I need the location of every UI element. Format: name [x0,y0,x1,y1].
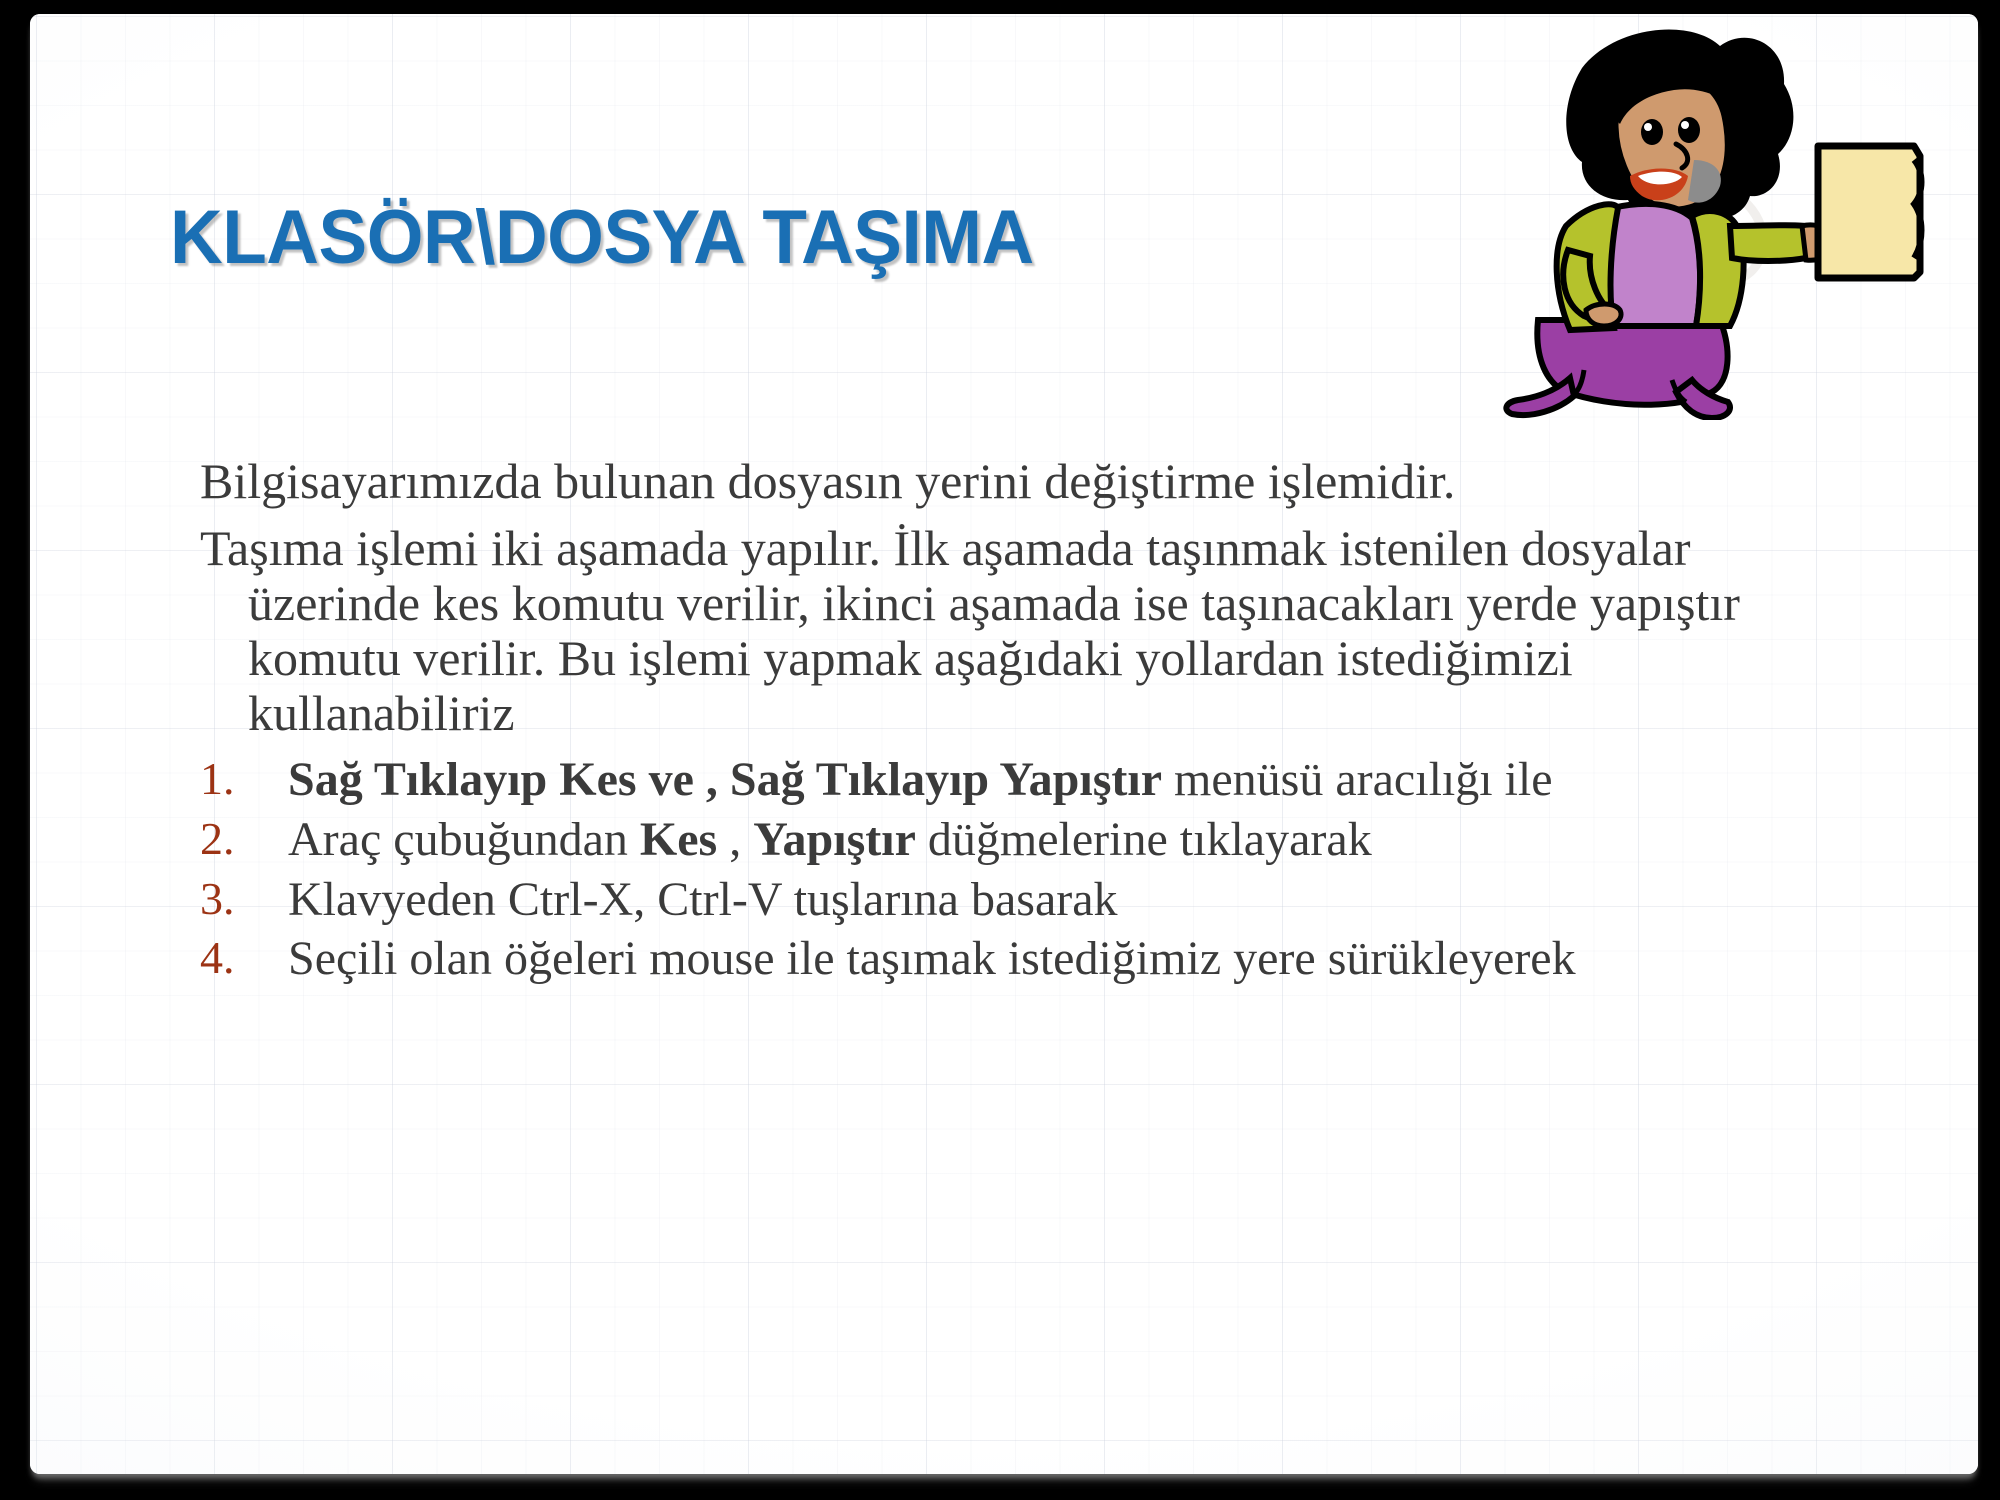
shoe-left [1506,378,1574,415]
step-2-mid: , [717,813,753,866]
list-marker: 1. [200,753,262,805]
eye-right-highlight [1681,121,1689,129]
blouse [1608,204,1701,326]
paragraph-intro-text: Bilgisayarımızda bulunan dosyasın yerini… [200,453,1455,509]
step-3-text: Klavyeden Ctrl-X, Ctrl-V tuşlarına basar… [288,873,1118,926]
list-marker: 2. [200,813,262,865]
step-2-bold-yapistir: Yapıştır [753,813,916,866]
arm-right-sleeve [1730,225,1812,261]
step-4-text: Seçili olan öğeleri mouse ile taşımak is… [288,932,1576,985]
eye-left [1641,119,1663,145]
slide-body: Bilgisayarımızda bulunan dosyasın yerini… [200,454,1840,992]
slide-canvas: KLASÖR\DOSYA TAŞIMA Bilgisayarımızda bul… [30,14,1978,1474]
list-item: 4.Seçili olan öğeleri mouse ile taşımak … [200,932,1840,986]
list-item: 3.Klavyeden Ctrl-X, Ctrl-V tuşlarına bas… [200,873,1840,927]
step-1-tail: menüsü aracılığı ile [1162,753,1553,806]
title-block: KLASÖR\DOSYA TAŞIMA [170,200,1370,276]
step-2-pre: Araç çubuğundan [288,813,640,866]
woman-carrying-folder-clipart [1462,20,1932,420]
paragraph-intro: Bilgisayarımızda bulunan dosyasın yerini… [200,454,1840,509]
list-marker: 3. [200,873,262,925]
list-item: 2.Araç çubuğundan Kes , Yapıştır düğmele… [200,813,1840,867]
paragraph-explain: Taşıma işlemi iki aşamada yapılır. İlk a… [200,521,1840,741]
steps-list: 1.Sağ Tıklayıp Kes ve , Sağ Tıklayıp Yap… [200,753,1840,986]
page-title: KLASÖR\DOSYA TAŞIMA [170,200,1322,276]
step-1-bold-lead: Sağ Tıklayıp Kes ve , Sağ Tıklayıp Yapış… [288,753,1162,806]
hand-left [1586,304,1621,326]
slide-outer-frame: KLASÖR\DOSYA TAŞIMA Bilgisayarımızda bul… [0,0,2000,1500]
list-marker: 4. [200,932,262,984]
folder [1818,146,1920,278]
paragraph-explain-text: Taşıma işlemi iki aşamada yapılır. İlk a… [200,520,1740,741]
list-item: 1.Sağ Tıklayıp Kes ve , Sağ Tıklayıp Yap… [200,753,1840,807]
step-2-tail: düğmelerine tıklayarak [916,813,1372,866]
step-2-bold-kes: Kes [640,813,717,866]
eye-right [1678,117,1700,143]
eye-left-highlight [1644,123,1652,131]
